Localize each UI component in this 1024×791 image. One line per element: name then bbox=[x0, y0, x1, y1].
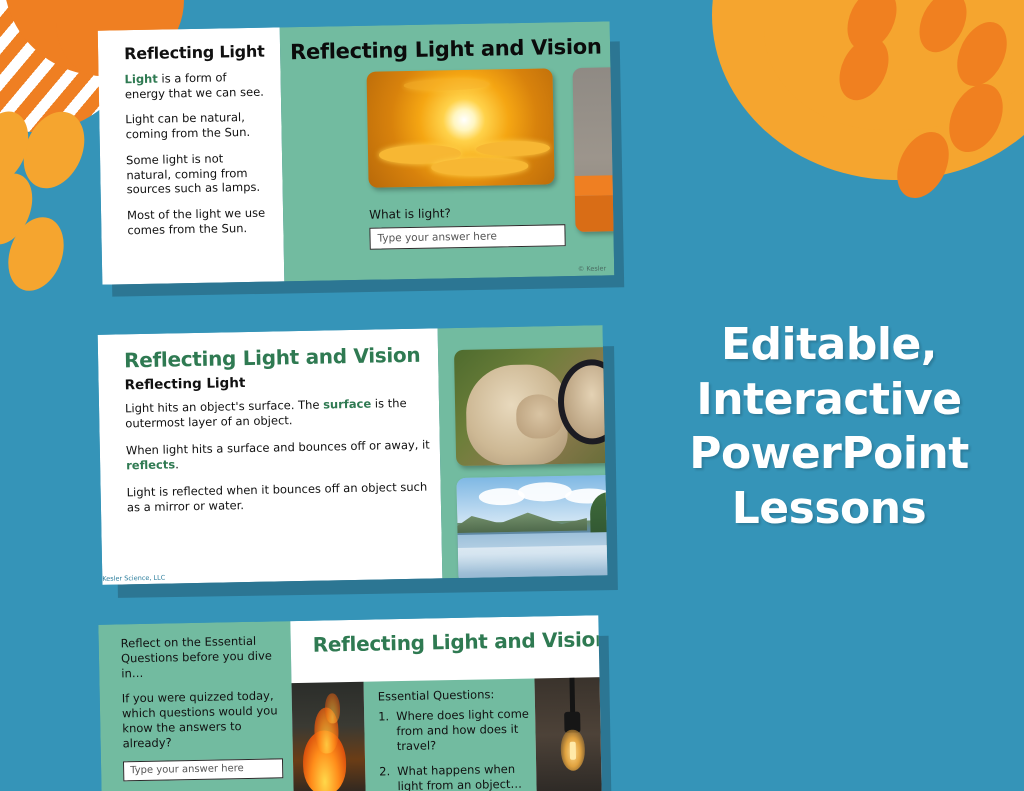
question-number: 2. bbox=[379, 764, 398, 791]
slide-thumbnail-2[interactable]: Reflecting Light and Vision Reflecting L… bbox=[98, 325, 608, 585]
slide3-prompt-1: Reflect on the Essential Questions befor… bbox=[121, 633, 282, 681]
question-number: 1. bbox=[378, 709, 397, 754]
slide3-prompt-2: If you were quizzed today, which questio… bbox=[122, 688, 283, 751]
slide2-paragraph-1: Light hits an object's surface. The surf… bbox=[125, 396, 430, 432]
paragraph-text: Light hits an object's surface. The bbox=[125, 398, 323, 416]
slide2-media-column bbox=[438, 325, 608, 578]
slide2-title: Reflecting Light and Vision bbox=[124, 343, 428, 373]
promo-line-3: PowerPoint bbox=[634, 427, 1024, 482]
campfire-photo bbox=[292, 682, 366, 791]
ellipse-decoration bbox=[0, 166, 42, 253]
slide1-paragraph-4: Most of the light we use comes from the … bbox=[127, 206, 272, 238]
ellipse-decoration bbox=[830, 30, 898, 109]
gold-blob-decoration-2 bbox=[764, 0, 1024, 130]
promo-line-2: Interactive bbox=[634, 373, 1024, 428]
monkey-mirror-photo bbox=[454, 347, 607, 466]
slide1-text-column: Reflecting Light Light is a form of ener… bbox=[98, 27, 285, 284]
slide-thumbnail-3[interactable]: Reflect on the Essential Questions befor… bbox=[98, 615, 601, 791]
question-text: What happens when light from an object… bbox=[397, 761, 531, 791]
slide1-question-label: What is light? bbox=[369, 206, 451, 221]
essential-questions-title: Essential Questions: bbox=[378, 687, 529, 704]
slide2-text-column: Reflecting Light and Vision Reflecting L… bbox=[98, 328, 443, 584]
sunset-photo bbox=[367, 68, 555, 187]
slide1-media-column: Reflecting Light and Vision What is ligh… bbox=[280, 21, 615, 281]
keyword-light: Light bbox=[124, 72, 157, 87]
slide1-copyright: © Kesler bbox=[578, 264, 607, 273]
slide2-paragraph-3: Light is reflected when it bounces off a… bbox=[127, 479, 432, 515]
slide1-heading: Reflecting Light bbox=[124, 42, 268, 64]
slide1-paragraph-1: Light is a form of energy that we can se… bbox=[124, 70, 269, 102]
ellipse-decoration bbox=[939, 75, 1014, 161]
ellipse-decoration bbox=[0, 209, 73, 298]
lamp-photo bbox=[572, 65, 614, 232]
paragraph-text: When light hits a surface and bounces of… bbox=[126, 437, 430, 457]
slide1-paragraph-2: Light can be natural, coming from the Su… bbox=[125, 110, 270, 142]
slide3-answer-input[interactable]: Type your answer here bbox=[123, 758, 283, 781]
question-text: Where does light come from and how does … bbox=[396, 707, 530, 754]
slide1-paragraph-3: Some light is not natural, coming from s… bbox=[126, 150, 271, 197]
slide3-title: Reflecting Light and Vision bbox=[290, 615, 601, 657]
promo-line-1: Editable, bbox=[634, 318, 1024, 373]
promo-headline: Editable, Interactive PowerPoint Lessons bbox=[634, 318, 1024, 536]
lightbulb-photo bbox=[535, 677, 602, 791]
promo-line-4: Lessons bbox=[634, 482, 1024, 537]
ellipse-decoration bbox=[947, 14, 1016, 94]
answer-placeholder-text: Type your answer here bbox=[130, 763, 244, 776]
slide2-credit: Kesler Science, LLC bbox=[102, 574, 165, 583]
ellipse-decoration bbox=[887, 123, 959, 206]
slide3-prompt-column: Reflect on the Essential Questions befor… bbox=[98, 621, 293, 791]
essential-questions-panel: Essential Questions: 1. Where does light… bbox=[363, 678, 536, 791]
slide-thumbnail-1[interactable]: Reflecting Light Light is a form of ener… bbox=[98, 21, 615, 284]
poster-canvas: Reflecting Light Light is a form of ener… bbox=[0, 0, 1024, 791]
slide3-content-column: Reflecting Light and Vision Essential Qu… bbox=[290, 615, 601, 791]
keyword-reflects: reflects bbox=[126, 457, 175, 472]
ellipse-decoration bbox=[12, 102, 96, 198]
paragraph-text: . bbox=[175, 457, 179, 471]
keyword-surface: surface bbox=[323, 397, 371, 412]
slide1-answer-input[interactable]: Type your answer here bbox=[369, 224, 565, 250]
ellipse-decoration bbox=[0, 103, 38, 192]
gold-blob-decoration bbox=[712, 0, 1024, 180]
slide2-paragraph-2: When light hits a surface and bounces of… bbox=[126, 437, 431, 473]
ellipse-decoration bbox=[838, 0, 906, 58]
slide1-title: Reflecting Light and Vision bbox=[290, 34, 610, 64]
lake-reflection-photo bbox=[456, 475, 607, 584]
essential-question-item: 2. What happens when light from an objec… bbox=[379, 761, 531, 791]
essential-question-item: 1. Where does light come from and how do… bbox=[378, 707, 530, 755]
answer-placeholder-text: Type your answer here bbox=[377, 230, 497, 244]
ellipse-decoration bbox=[910, 0, 976, 60]
slide2-heading: Reflecting Light bbox=[124, 372, 428, 394]
